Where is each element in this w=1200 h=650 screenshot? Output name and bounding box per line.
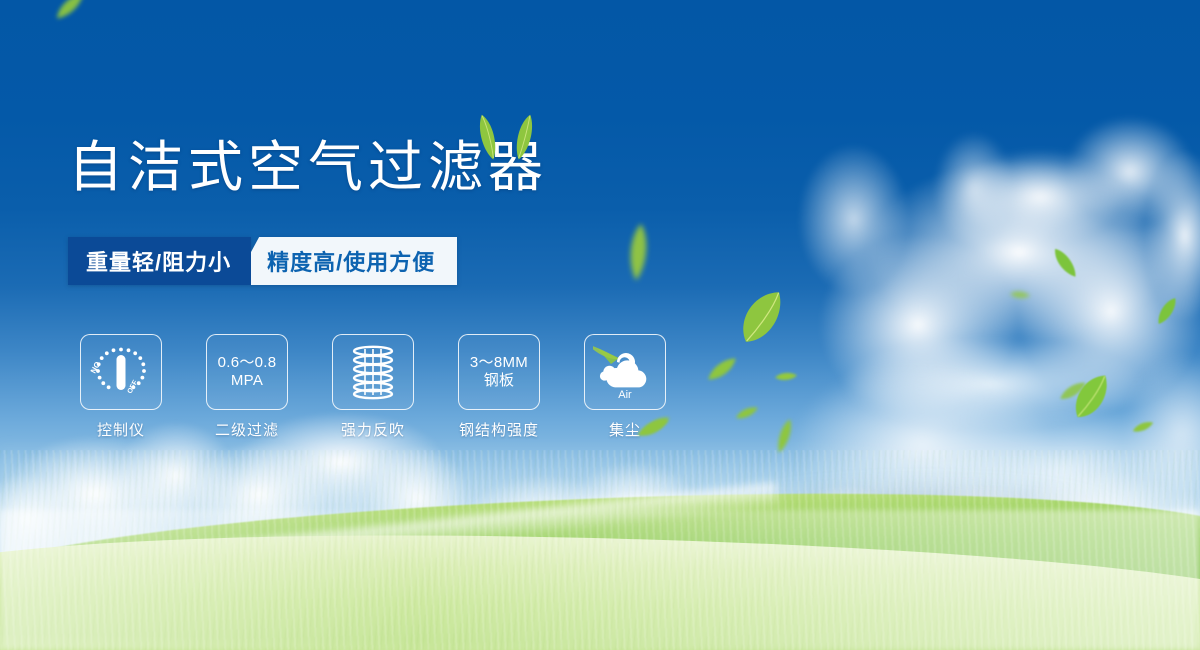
subtitle-tag-right: 精度高/使用方便 — [233, 237, 457, 285]
air-cloud-icon: Air — [584, 334, 666, 410]
filter-stack-icon — [332, 334, 414, 410]
dial-off-label: OFF — [127, 379, 140, 395]
pressure-text: 0.6〜0.8 MPA — [218, 354, 277, 389]
feature-label: 强力反吹 — [322, 419, 424, 440]
leaf-icon — [1008, 285, 1032, 305]
leaf-icon — [48, 0, 91, 25]
leaf-icon — [622, 222, 654, 282]
steel-text: 3〜8MM 钢板 — [470, 354, 528, 389]
cloud-right-top — [920, 95, 1200, 265]
feature-label: 钢结构强度 — [448, 419, 550, 440]
air-label: Air — [618, 389, 632, 401]
feature-label: 集尘 — [574, 419, 676, 440]
pressure-value: 0.6〜0.8 — [218, 354, 277, 371]
grass-field — [0, 450, 1200, 650]
leaf-icon — [1057, 361, 1125, 430]
dial-no-label: NO — [89, 360, 103, 375]
page-title: 自洁式空气过滤器 — [68, 140, 548, 195]
leaf-icon — [734, 403, 760, 422]
feature-item-backblow[interactable]: 强力反吹 — [322, 334, 424, 440]
cloud-right-main — [780, 120, 1200, 450]
feature-item-steel[interactable]: 3〜8MM 钢板 钢结构强度 — [448, 334, 550, 440]
leaf-icon — [702, 350, 743, 387]
steel-material: 钢板 — [470, 372, 528, 390]
product-hero-banner: 自洁式空气过滤器 重量轻/阻力小 精度高/使用方便 — [0, 0, 1200, 650]
control-dial-icon: NO OFF — [80, 334, 162, 410]
feature-item-control-dial[interactable]: NO OFF 控制仪 — [70, 334, 172, 440]
leaf-icon — [1044, 241, 1086, 285]
leaf-icon — [1056, 378, 1090, 404]
steel-plate-text-icon: 3〜8MM 钢板 — [458, 334, 540, 410]
feature-item-dust[interactable]: Air 集尘 — [574, 334, 676, 440]
steel-thickness: 3〜8MM — [470, 354, 528, 371]
feature-label: 控制仪 — [70, 419, 172, 440]
grass-sheen — [0, 510, 1200, 650]
feature-list: NO OFF 控制仪 0.6〜0.8 MPA 二级过滤 — [70, 334, 676, 440]
leaf-icon — [1148, 291, 1186, 331]
feature-item-pressure[interactable]: 0.6〜0.8 MPA 二级过滤 — [196, 334, 298, 440]
leaf-icon — [773, 366, 798, 387]
pressure-unit: MPA — [218, 372, 277, 390]
leaf-icon — [1131, 419, 1154, 435]
leaf-icon — [722, 276, 801, 357]
subtitle-tag-left: 重量轻/阻力小 — [68, 237, 251, 285]
feature-label: 二级过滤 — [196, 419, 298, 440]
pressure-text-icon: 0.6〜0.8 MPA — [206, 334, 288, 410]
subtitle-tag-bar: 重量轻/阻力小 精度高/使用方便 — [68, 237, 457, 285]
